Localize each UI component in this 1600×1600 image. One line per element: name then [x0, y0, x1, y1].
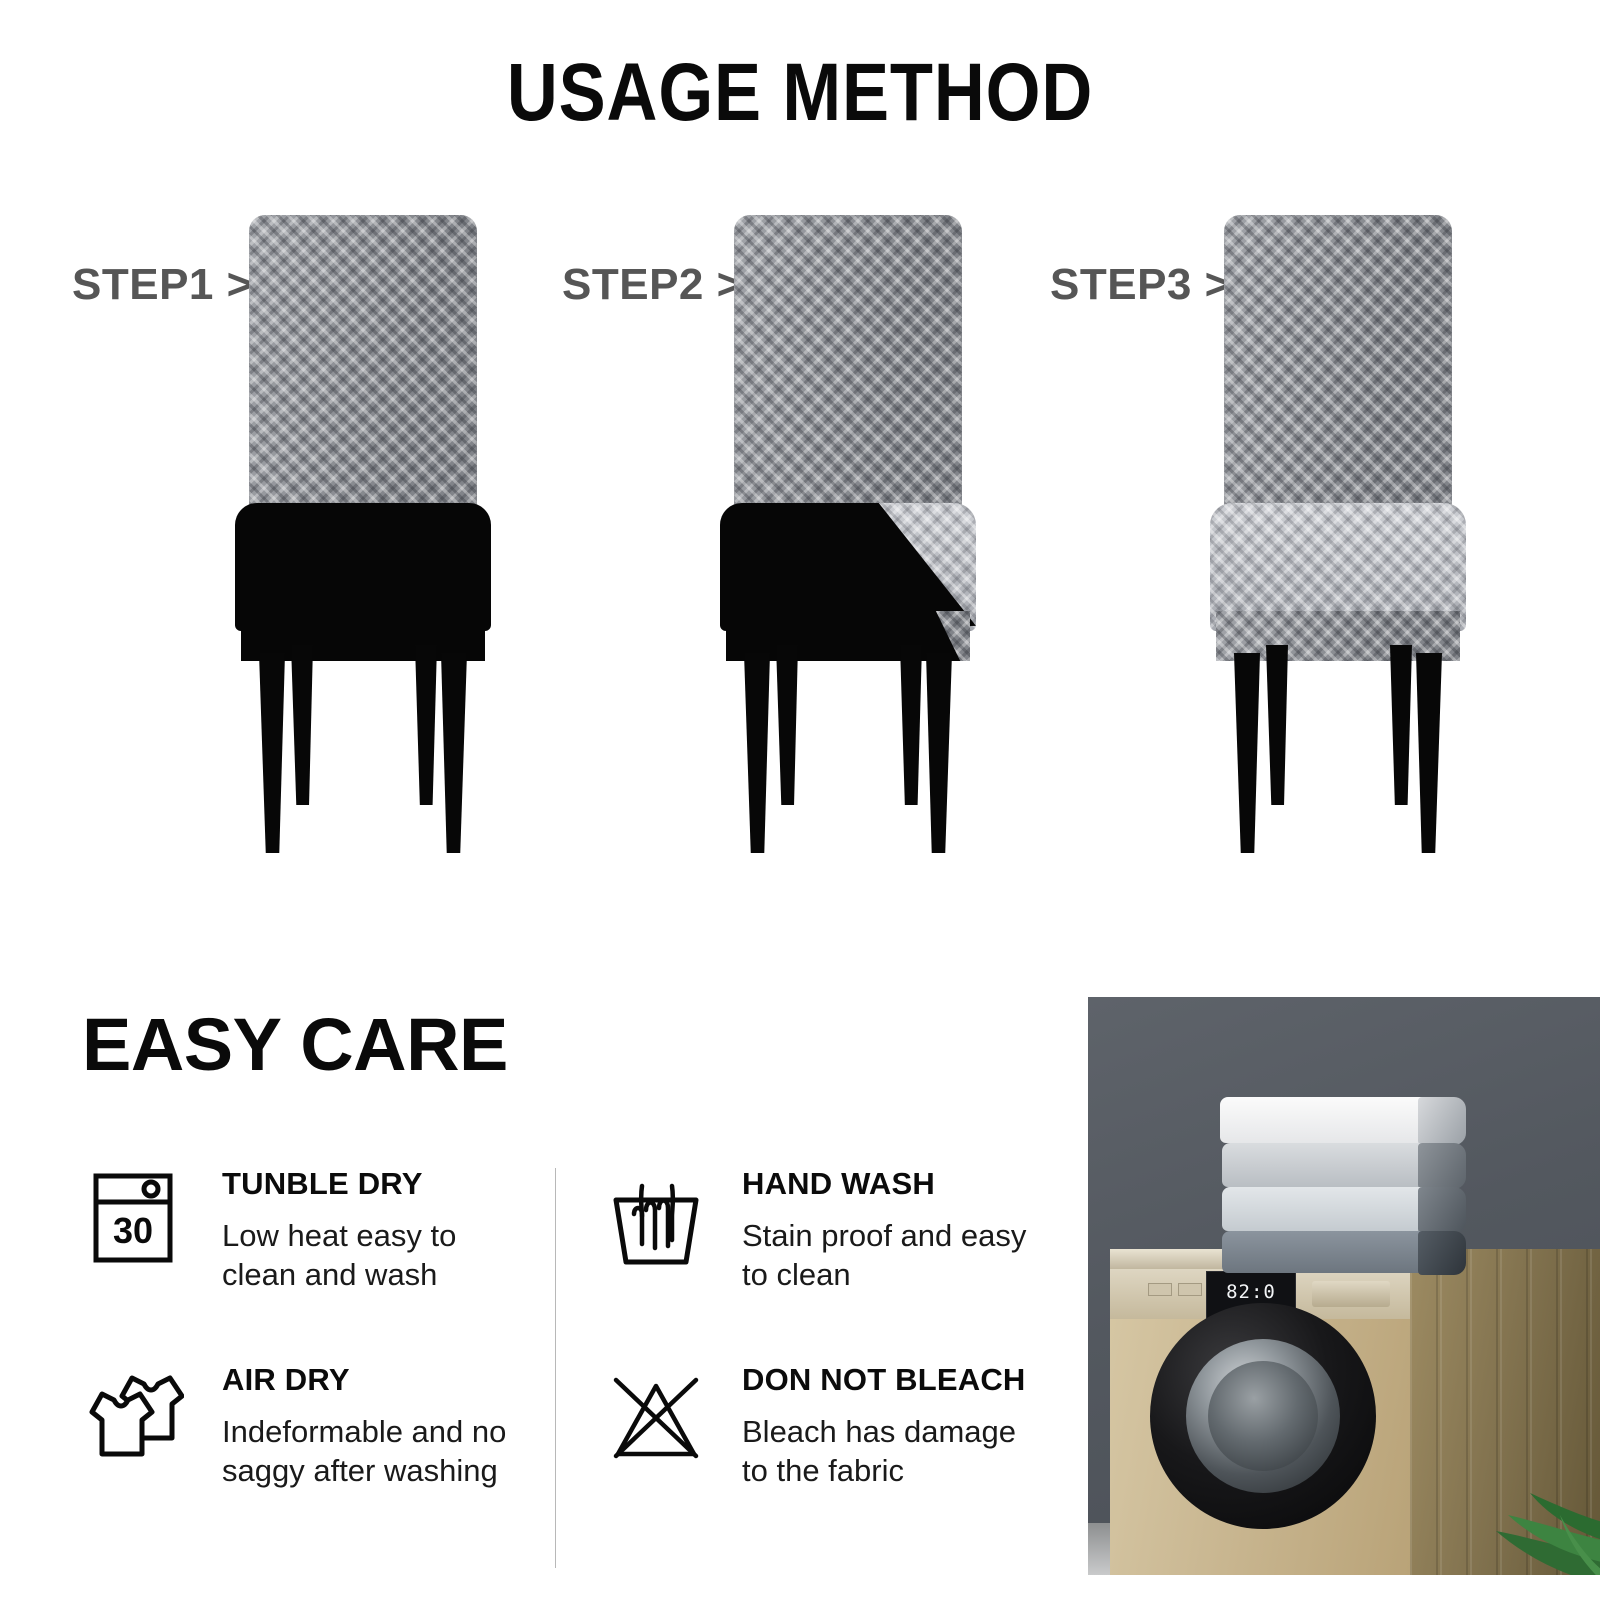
washer-door — [1150, 1303, 1376, 1529]
washing-machine-with-towels-photo: 82:0 — [1088, 997, 1600, 1575]
towel-dark-gray-edge — [1418, 1231, 1466, 1275]
chair-leg-front-left — [259, 653, 285, 853]
easy-care-grid: 30 TUNBLE DRY Low heat easy to clean and… — [80, 1160, 1030, 1580]
chair-leg-front-left — [744, 653, 770, 853]
care-heading: HAND WASH — [742, 1166, 1030, 1202]
chair-leg-back-left — [776, 645, 798, 805]
care-description: Bleach has damage to the fabric — [742, 1412, 1030, 1490]
page-title: USAGE METHOD — [112, 52, 1488, 134]
care-text-block: AIR DRY Indeformable and no saggy after … — [222, 1362, 510, 1490]
washer-button-1 — [1148, 1283, 1172, 1296]
towel-pale-gray-edge — [1418, 1187, 1466, 1233]
washer-door-glass — [1186, 1339, 1340, 1493]
chair-leg-back-right — [900, 645, 922, 805]
step-item-3: STEP3 > — [1010, 175, 1570, 875]
washer-drum — [1208, 1361, 1318, 1471]
towel-light-gray — [1222, 1143, 1450, 1187]
chair-leg-back-left — [291, 645, 313, 805]
washer-display-value: 82:0 — [1207, 1281, 1295, 1303]
tumble-dry-icon: 30 — [88, 1166, 184, 1270]
care-description: Low heat easy to clean and wash — [222, 1216, 510, 1294]
care-heading: AIR DRY — [222, 1362, 510, 1398]
washer-detergent-drawer — [1312, 1281, 1390, 1307]
care-column-divider — [555, 1168, 556, 1568]
usage-steps-section: STEP1 > STEP2 > STEP3 — [0, 175, 1600, 875]
air-dry-icon — [88, 1362, 184, 1466]
chair-backrest-cover — [1224, 215, 1452, 515]
step3-label: STEP3 > — [1050, 260, 1231, 310]
do-not-bleach-icon — [608, 1362, 704, 1466]
care-heading: TUNBLE DRY — [222, 1166, 510, 1202]
step1-label: STEP1 > — [72, 260, 253, 310]
easy-care-title: EASY CARE — [82, 1008, 508, 1082]
chair-leg-back-right — [415, 645, 437, 805]
chair-leg-front-left — [1234, 653, 1260, 853]
care-text-block: HAND WASH Stain proof and easy to clean — [742, 1166, 1030, 1294]
plant-leaves — [1456, 1445, 1600, 1575]
towel-pale-gray — [1222, 1187, 1450, 1231]
care-item-air-dry: AIR DRY Indeformable and no saggy after … — [80, 1356, 510, 1490]
towel-dark-gray — [1222, 1231, 1450, 1273]
towel-white-edge — [1418, 1097, 1466, 1145]
chair-backrest-cover — [249, 215, 477, 515]
care-heading: DON NOT BLEACH — [742, 1362, 1030, 1398]
care-description: Stain proof and easy to clean — [742, 1216, 1030, 1294]
chair-leg-front-right — [441, 653, 467, 853]
hand-wash-icon — [608, 1166, 704, 1270]
care-text-block: DON NOT BLEACH Bleach has damage to the … — [742, 1362, 1030, 1490]
towel-white — [1220, 1097, 1450, 1143]
chair-leg-back-right — [1390, 645, 1412, 805]
care-item-hand-wash: HAND WASH Stain proof and easy to clean — [600, 1160, 1030, 1294]
care-item-tumble-dry: 30 TUNBLE DRY Low heat easy to clean and… — [80, 1160, 510, 1294]
chair-leg-front-right — [1416, 653, 1442, 853]
care-description: Indeformable and no saggy after washing — [222, 1412, 510, 1490]
chair-leg-front-right — [926, 653, 952, 853]
step-item-2: STEP2 > — [520, 175, 1040, 875]
step2-label: STEP2 > — [562, 260, 743, 310]
chair-leg-back-left — [1266, 645, 1288, 805]
towel-light-gray-edge — [1418, 1143, 1466, 1189]
washer-button-2 — [1178, 1283, 1202, 1296]
care-text-block: TUNBLE DRY Low heat easy to clean and wa… — [222, 1166, 510, 1294]
chair-backrest-cover — [734, 215, 962, 515]
step-item-1: STEP1 > — [30, 175, 550, 875]
tumble-dry-temperature: 30 — [113, 1210, 153, 1251]
care-item-do-not-bleach: DON NOT BLEACH Bleach has damage to the … — [600, 1356, 1030, 1490]
